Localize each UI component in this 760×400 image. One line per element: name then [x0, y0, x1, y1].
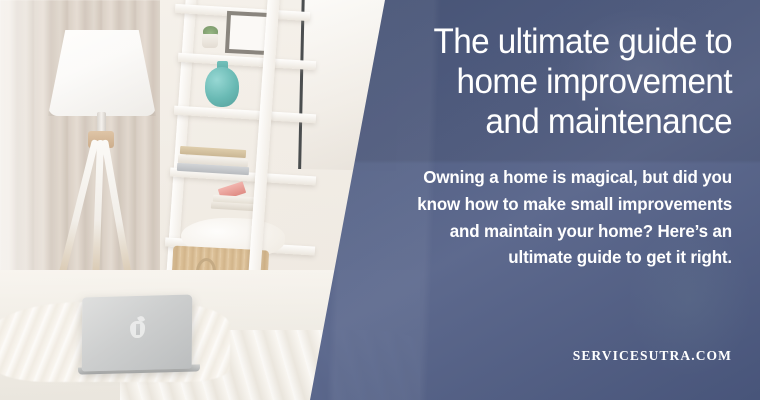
subheadline: Owning a home is magical, but did you kn…	[391, 164, 732, 272]
lamp-shade-icon	[48, 30, 156, 116]
headline: The ultimate guide to home improvement a…	[398, 22, 732, 142]
brand-wordmark: SERVICESUTRA.COM	[380, 348, 732, 364]
laptop	[82, 295, 193, 372]
apple-logo-icon	[130, 321, 145, 338]
teal-vase	[205, 67, 239, 107]
plant-pot	[202, 34, 218, 48]
banner-content: The ultimate guide to home improvement a…	[370, 0, 750, 400]
promo-banner: The ultimate guide to home improvement a…	[0, 0, 760, 400]
